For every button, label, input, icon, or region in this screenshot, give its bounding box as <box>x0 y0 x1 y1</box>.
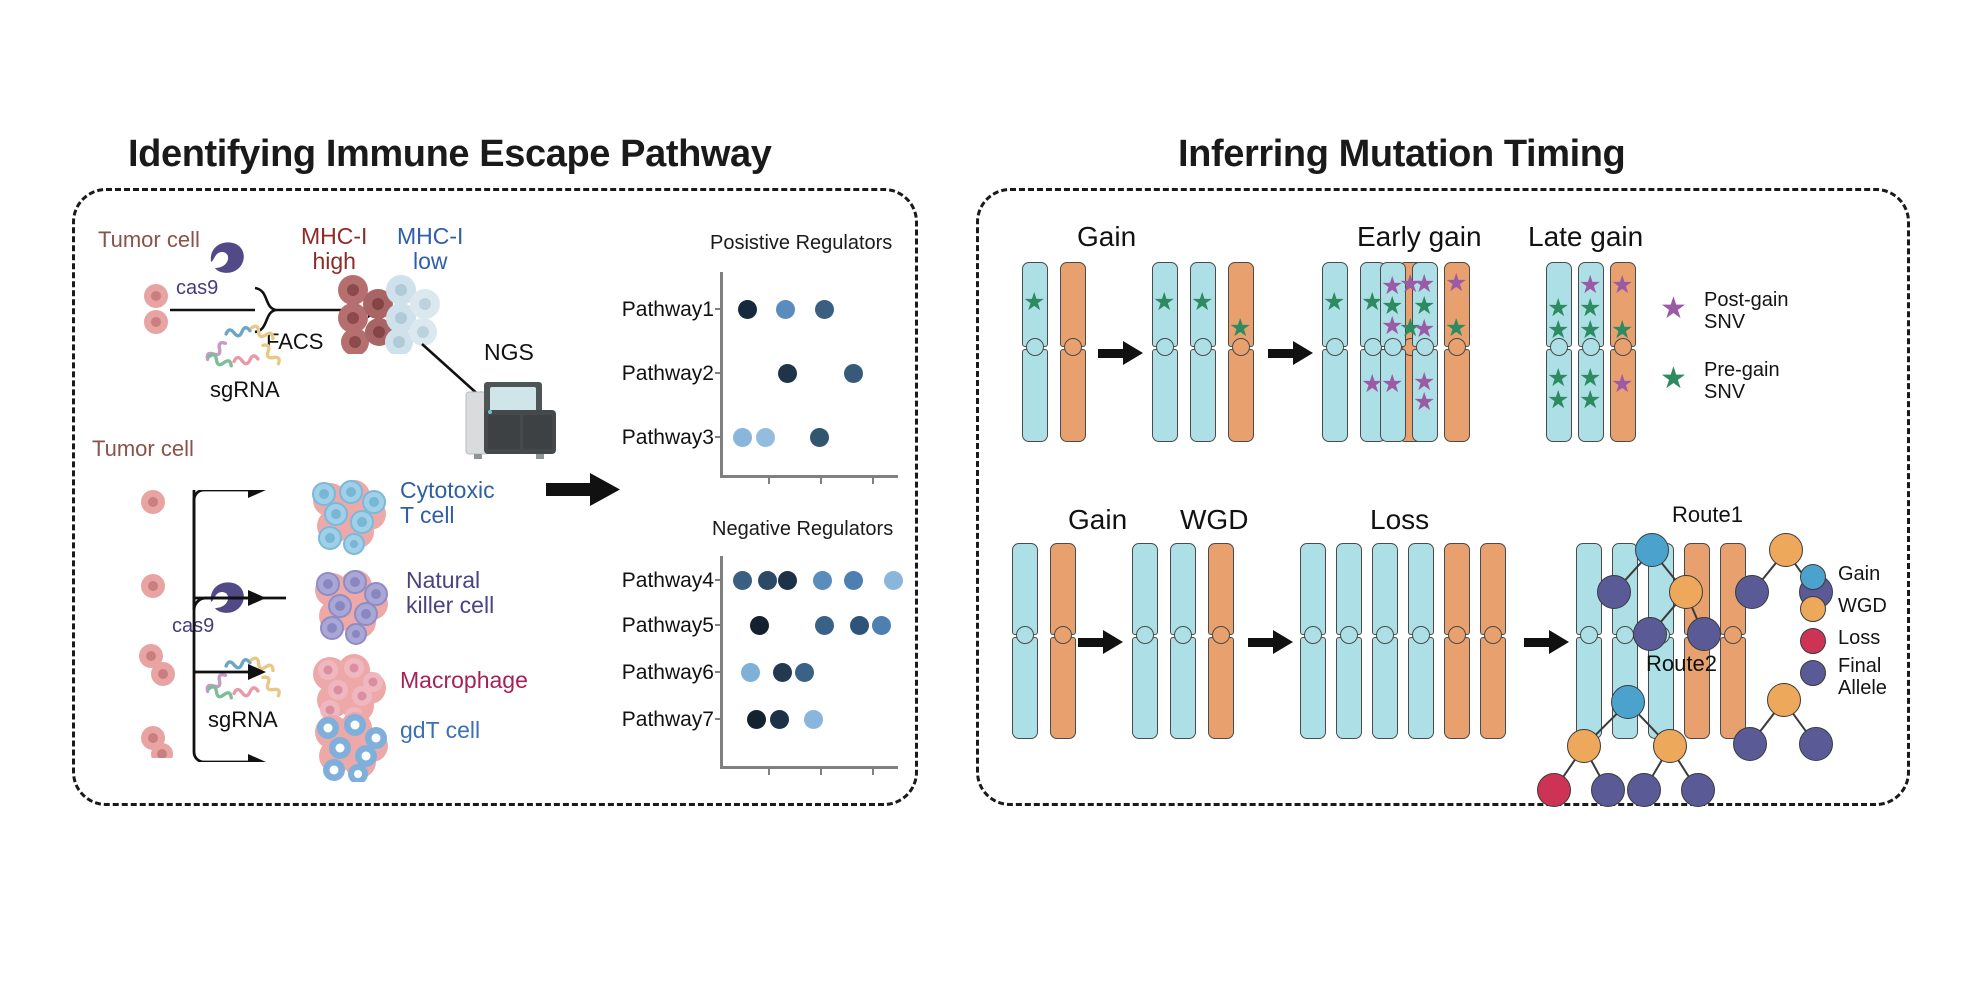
tree-node-wgd <box>1669 575 1703 609</box>
route1-label: Route1 <box>1672 503 1743 527</box>
chromosome-orange: ★ <box>1228 262 1254 442</box>
pre-gain-star-icon: ★ <box>1191 290 1213 315</box>
chromosome-orange <box>1444 543 1470 739</box>
chart-1-point <box>741 663 760 682</box>
pre-gain-star-icon: ★ <box>1445 316 1467 341</box>
chart-1-point <box>773 663 792 682</box>
chromosome-state <box>1300 543 1506 739</box>
chromosome-blue <box>1408 543 1434 739</box>
pre-gain-star-icon: ★ <box>1579 388 1601 413</box>
sgrna-icon-top <box>196 320 288 376</box>
tree-node-final <box>1733 727 1767 761</box>
chart-0: Pathway1 Pathway2 Pathway3 <box>612 272 900 486</box>
tree-node-wgd <box>1767 683 1801 717</box>
mhc-high-label: MHC-I high <box>301 224 367 274</box>
legend-loss-label: Loss <box>1838 628 1880 650</box>
legend-gain-swatch <box>1800 564 1826 590</box>
cell-type-label-0: Cytotoxic T cell <box>400 478 495 528</box>
chart-1-point <box>758 571 777 590</box>
tree-node-wgd <box>1769 533 1803 567</box>
chromosome-blue <box>1336 543 1362 739</box>
chart-1-point <box>844 571 863 590</box>
post-gain-line1: Post-gain <box>1704 290 1789 312</box>
chromosome-state: ★★★★★★★★★★★ <box>1380 262 1470 442</box>
tree-node-final <box>1799 727 1833 761</box>
chromosome-blue <box>1170 543 1196 739</box>
cell-type-2-line1: Macrophage <box>400 668 528 693</box>
branch-arrows-icon <box>186 490 311 762</box>
post-gain-star-icon: ★ <box>1611 273 1633 298</box>
chromosome-blue: ★ <box>1190 262 1216 442</box>
pre-gain-legend-label: Pre-gain SNV <box>1704 360 1780 403</box>
post-gain-line2: SNV <box>1704 312 1789 334</box>
chart-0-point <box>778 364 797 383</box>
chromosome-blue <box>1132 543 1158 739</box>
legend-final-swatch <box>1800 660 1826 686</box>
tree-node-gain <box>1611 685 1645 719</box>
post-gain-star-icon: ★ <box>1413 390 1435 415</box>
chart-1-point <box>750 616 769 635</box>
chart-0-point <box>738 300 757 319</box>
chart-1-title: Negative Regulators <box>712 518 893 541</box>
tree-node-final <box>1627 773 1661 807</box>
pre-gain-star-icon: ★ <box>1660 364 1687 394</box>
tree-node-final <box>1633 617 1667 651</box>
chart-0-point <box>810 428 829 447</box>
chart-0-title: Posistive Regulators <box>710 232 892 255</box>
chromosome-orange: ★★★ <box>1610 262 1636 442</box>
chart-1-point <box>813 571 832 590</box>
natural-killer-cell-icon <box>308 568 398 646</box>
ngs-label: NGS <box>484 340 534 365</box>
cell-type-3-line1: gdT cell <box>400 718 480 743</box>
tree-node-final <box>1681 773 1715 807</box>
cell-type-0-line2: T cell <box>400 503 495 528</box>
pre-gain-star-icon: ★ <box>1229 316 1251 341</box>
tree-node-gain <box>1635 533 1669 567</box>
right-panel-title: Inferring Mutation Timing <box>1178 133 1625 176</box>
pre-gain-star-icon: ★ <box>1579 318 1601 343</box>
chart-0-point <box>844 364 863 383</box>
tree-node-final <box>1597 575 1631 609</box>
sgrna-label-top: sgRNA <box>210 378 280 402</box>
chart-1-point <box>804 710 823 729</box>
pre-gain-star-icon: ★ <box>1153 290 1175 315</box>
chromosome-blue <box>1576 543 1602 739</box>
chromosome-orange <box>1720 543 1746 739</box>
chromosome-blue: ★★★★★ <box>1412 262 1438 442</box>
legend-gain-label: Gain <box>1838 564 1880 586</box>
ngs-machine-icon <box>462 378 560 460</box>
mhc-low-line1: MHC-I <box>397 224 463 249</box>
chromosome-state: ★★★ <box>1152 262 1254 442</box>
pre-gain-line1: Pre-gain <box>1704 360 1780 382</box>
legend-final-line1: Final <box>1838 656 1887 678</box>
flow-arrow-icon <box>1078 629 1124 660</box>
post-gain-star-icon: ★ <box>1660 294 1687 324</box>
chart-1-point <box>815 616 834 635</box>
chromosome-blue: ★ <box>1152 262 1178 442</box>
chart-0-point <box>776 300 795 319</box>
chart-1-point <box>778 571 797 590</box>
pre-gain-star-icon: ★ <box>1323 290 1345 315</box>
pre-gain-star-icon: ★ <box>1547 318 1569 343</box>
chart-1-point <box>850 616 869 635</box>
chart-1-point <box>795 663 814 682</box>
legend-wgd-swatch <box>1800 596 1826 622</box>
cell-type-1-line1: Natural <box>406 568 494 593</box>
cytotoxic-t-cell-icon <box>306 478 396 556</box>
post-gain-star-icon: ★ <box>1611 372 1633 397</box>
chart-0-points-layer <box>612 272 900 486</box>
tree-node-final <box>1591 773 1625 807</box>
chromosome-orange <box>1050 543 1076 739</box>
row2-step-label-gain: Gain <box>1068 505 1127 535</box>
gdt-cell-icon <box>308 712 398 782</box>
chromosome-blue <box>1372 543 1398 739</box>
chromosome-state: ★ <box>1022 262 1086 442</box>
mhc-high-line2: high <box>301 249 367 274</box>
chromosome-blue: ★ <box>1322 262 1348 442</box>
chromosome-orange <box>1480 543 1506 739</box>
chromosome-blue: ★★★★ <box>1380 262 1406 442</box>
legend-loss-swatch <box>1800 628 1826 654</box>
flow-arrow-icon <box>1098 340 1144 371</box>
chromosome-state: ★★★★★★★★★★★★ <box>1546 262 1636 442</box>
pre-gain-star-icon: ★ <box>1547 388 1569 413</box>
mhc-low-line2: low <box>397 249 463 274</box>
cell-type-label-3: gdT cell <box>400 718 480 743</box>
pre-gain-star-icon: ★ <box>1611 318 1633 343</box>
legend-final-label: Final Allele <box>1838 656 1887 699</box>
flow-arrow-icon <box>1524 629 1570 660</box>
left-panel-title: Identifying Immune Escape Pathway <box>128 133 772 176</box>
chart-1-point <box>733 571 752 590</box>
cell-type-label-1: Natural killer cell <box>406 568 494 618</box>
pre-gain-star-icon: ★ <box>1023 290 1045 315</box>
chromosome-orange <box>1208 543 1234 739</box>
tree-node-final <box>1735 575 1769 609</box>
chromosome-blue <box>1300 543 1326 739</box>
chromosome-blue: ★★★★★ <box>1578 262 1604 442</box>
chart-1-point <box>884 571 903 590</box>
post-gain-star-icon: ★ <box>1381 314 1403 339</box>
tree-node-loss <box>1537 773 1571 807</box>
post-gain-star-icon: ★ <box>1445 271 1467 296</box>
chart-1: Pathway4 Pathway5 Pathway6 Pathway7 <box>612 556 900 776</box>
chromosome-orange <box>1060 262 1086 442</box>
post-gain-star-icon: ★ <box>1381 372 1403 397</box>
chromosome-blue: ★★★★ <box>1546 262 1572 442</box>
row1-step-label-late-gain: Late gain <box>1528 222 1643 252</box>
chromosome-blue <box>1012 543 1038 739</box>
cell-type-label-2: Macrophage <box>400 668 528 693</box>
chart-1-points-layer <box>612 556 900 776</box>
row1-step-label-early-gain: Early gain <box>1357 222 1482 252</box>
row2-step-label-loss: Loss <box>1370 505 1429 535</box>
row1-step-label-gain: Gain <box>1077 222 1136 252</box>
route2-label: Route2 <box>1646 652 1717 676</box>
post-gain-star-icon: ★ <box>1413 317 1435 342</box>
legend-wgd-label: WGD <box>1838 596 1887 618</box>
chromosome-orange: ★★ <box>1444 262 1470 442</box>
mhc-high-line1: MHC-I <box>301 224 367 249</box>
chromosome-state <box>1012 543 1076 739</box>
tree-node-wgd <box>1653 729 1687 763</box>
chart-1-point <box>770 710 789 729</box>
chart-0-point <box>733 428 752 447</box>
post-gain-legend-label: Post-gain SNV <box>1704 290 1789 333</box>
cell-type-0-line1: Cytotoxic <box>400 478 495 503</box>
tumor-cell-label-top: Tumor cell <box>98 228 200 252</box>
tumor-cell-label-bottom: Tumor cell <box>92 437 194 461</box>
cell-type-1-line2: killer cell <box>406 593 494 618</box>
pre-gain-line2: SNV <box>1704 382 1780 404</box>
chart-0-point <box>815 300 834 319</box>
chart-0-point <box>756 428 775 447</box>
mhc-low-label: MHC-I low <box>397 224 463 274</box>
legend-final-line2: Allele <box>1838 678 1887 700</box>
tree-node-final <box>1687 617 1721 651</box>
chart-1-point <box>747 710 766 729</box>
flow-arrow-icon <box>1248 629 1294 660</box>
chromosome-state <box>1132 543 1234 739</box>
chromosome-blue: ★ <box>1022 262 1048 442</box>
cas9-icon-top <box>205 238 249 278</box>
row2-step-label-wgd: WGD <box>1180 505 1248 535</box>
tree-node-wgd <box>1567 729 1601 763</box>
flow-arrow-icon <box>1268 340 1314 371</box>
chart-1-point <box>872 616 891 635</box>
